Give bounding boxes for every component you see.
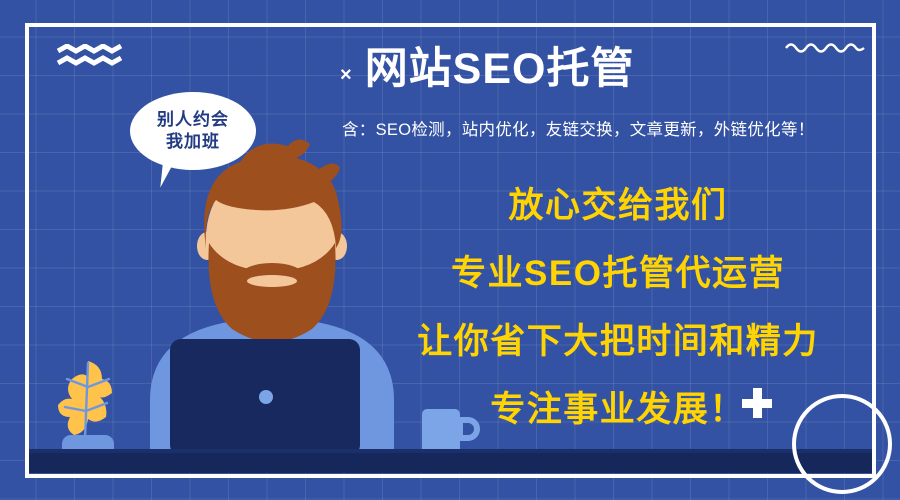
desk xyxy=(28,453,874,473)
seo-hosting-banner: 别人约会 我加班 × 网站SEO托管 含：SEO检测，站内优化，友链交换，文章更… xyxy=(0,0,900,500)
laptop-logo-icon xyxy=(259,390,273,404)
slogan-line-1: 放心交给我们 xyxy=(392,188,844,223)
slogan-block: 放心交给我们 专业SEO托管代运营 让你省下大把时间和精力 专注事业发展！ xyxy=(392,188,844,427)
speech-bubble: 别人约会 我加班 xyxy=(130,92,256,170)
title-row: × 网站SEO托管 xyxy=(340,47,635,92)
wave-line-icon xyxy=(784,40,866,54)
potted-plant-icon xyxy=(55,345,125,465)
speech-bubble-line-2: 我加班 xyxy=(166,131,220,153)
subtitle: 含：SEO检测，站内优化，友链交换，文章更新，外链优化等！ xyxy=(342,116,815,140)
slogan-line-2: 专业SEO托管代运营 xyxy=(392,256,844,291)
speech-bubble-line-1: 别人约会 xyxy=(157,109,229,131)
slogan-line-3: 让你省下大把时间和精力 xyxy=(392,324,844,359)
page-title: 网站SEO托管 xyxy=(365,47,635,92)
wave-lines-icon xyxy=(56,44,132,68)
cross-bullet-icon: × xyxy=(340,65,352,85)
slogan-line-4: 专注事业发展！ xyxy=(392,392,844,427)
